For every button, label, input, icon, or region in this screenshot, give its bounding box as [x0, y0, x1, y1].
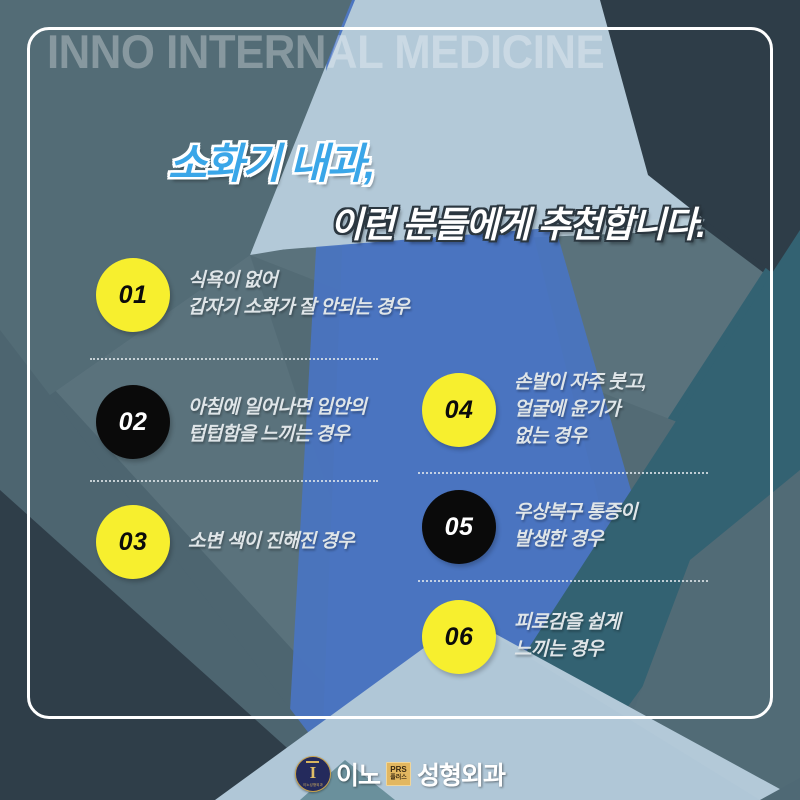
prs-label: PRS: [390, 766, 406, 774]
item-badge-03: 03: [96, 505, 170, 579]
item-badge-02: 02: [96, 385, 170, 459]
prs-plus-label: 플러스: [390, 775, 407, 782]
list-item-04: 04 손발이 자주 붓고, 얼굴에 윤기가 없는 경우: [422, 370, 646, 451]
item-text-05: 우상복구 통증이 발생한 경우: [514, 500, 637, 554]
brand-name-clinic: 성형외과: [417, 756, 505, 792]
list-item-03: 03 소변 색이 진해진 경우: [96, 505, 354, 579]
item-badge-04: 04: [422, 373, 496, 447]
list-item-06: 06 피로감을 쉽게 느끼는 경우: [422, 600, 620, 674]
list-item-05: 05 우상복구 통증이 발생한 경우: [422, 490, 637, 564]
page-title-line1: 소화기 내과,: [168, 142, 374, 186]
item-badge-06: 06: [422, 600, 496, 674]
clinic-emblem-icon: I 이노성형외과: [295, 756, 331, 792]
item-text-02: 아침에 일어나면 입안의 텁텁함을 느끼는 경우: [188, 395, 366, 449]
infographic-poster: INNO INTERNAL MEDICINE 소화기 내과, 이런 분들에게 추…: [0, 0, 800, 800]
emblem-caption: 이노성형외과: [303, 782, 323, 787]
prs-plus-badge: PRS 플러스: [386, 762, 411, 786]
item-text-01: 식욕이 없어 갑자기 소화가 잘 안되는 경우: [188, 268, 409, 322]
item-text-06: 피로감을 쉽게 느끼는 경우: [514, 610, 620, 664]
item-divider-4: [418, 472, 708, 474]
watermark-title: INNO INTERNAL MEDICINE: [47, 28, 642, 75]
list-item-01: 01 식욕이 없어 갑자기 소화가 잘 안되는 경우: [96, 258, 409, 332]
brand-name-inno: 이노: [336, 756, 380, 792]
list-item-02: 02 아침에 일어나면 입안의 텁텁함을 느끼는 경우: [96, 385, 366, 459]
item-divider-2: [90, 480, 378, 482]
item-badge-01: 01: [96, 258, 170, 332]
item-badge-05: 05: [422, 490, 496, 564]
footer-logo: I 이노성형외과 이노 PRS 플러스 성형외과: [0, 756, 800, 792]
item-divider-1: [90, 358, 378, 360]
item-divider-5: [418, 580, 708, 582]
item-text-03: 소변 색이 진해진 경우: [188, 529, 354, 556]
emblem-letter: I: [310, 764, 317, 781]
page-title-line2: 이런 분들에게 추천합니다.: [330, 206, 705, 244]
item-text-04: 손발이 자주 붓고, 얼굴에 윤기가 없는 경우: [514, 370, 646, 451]
